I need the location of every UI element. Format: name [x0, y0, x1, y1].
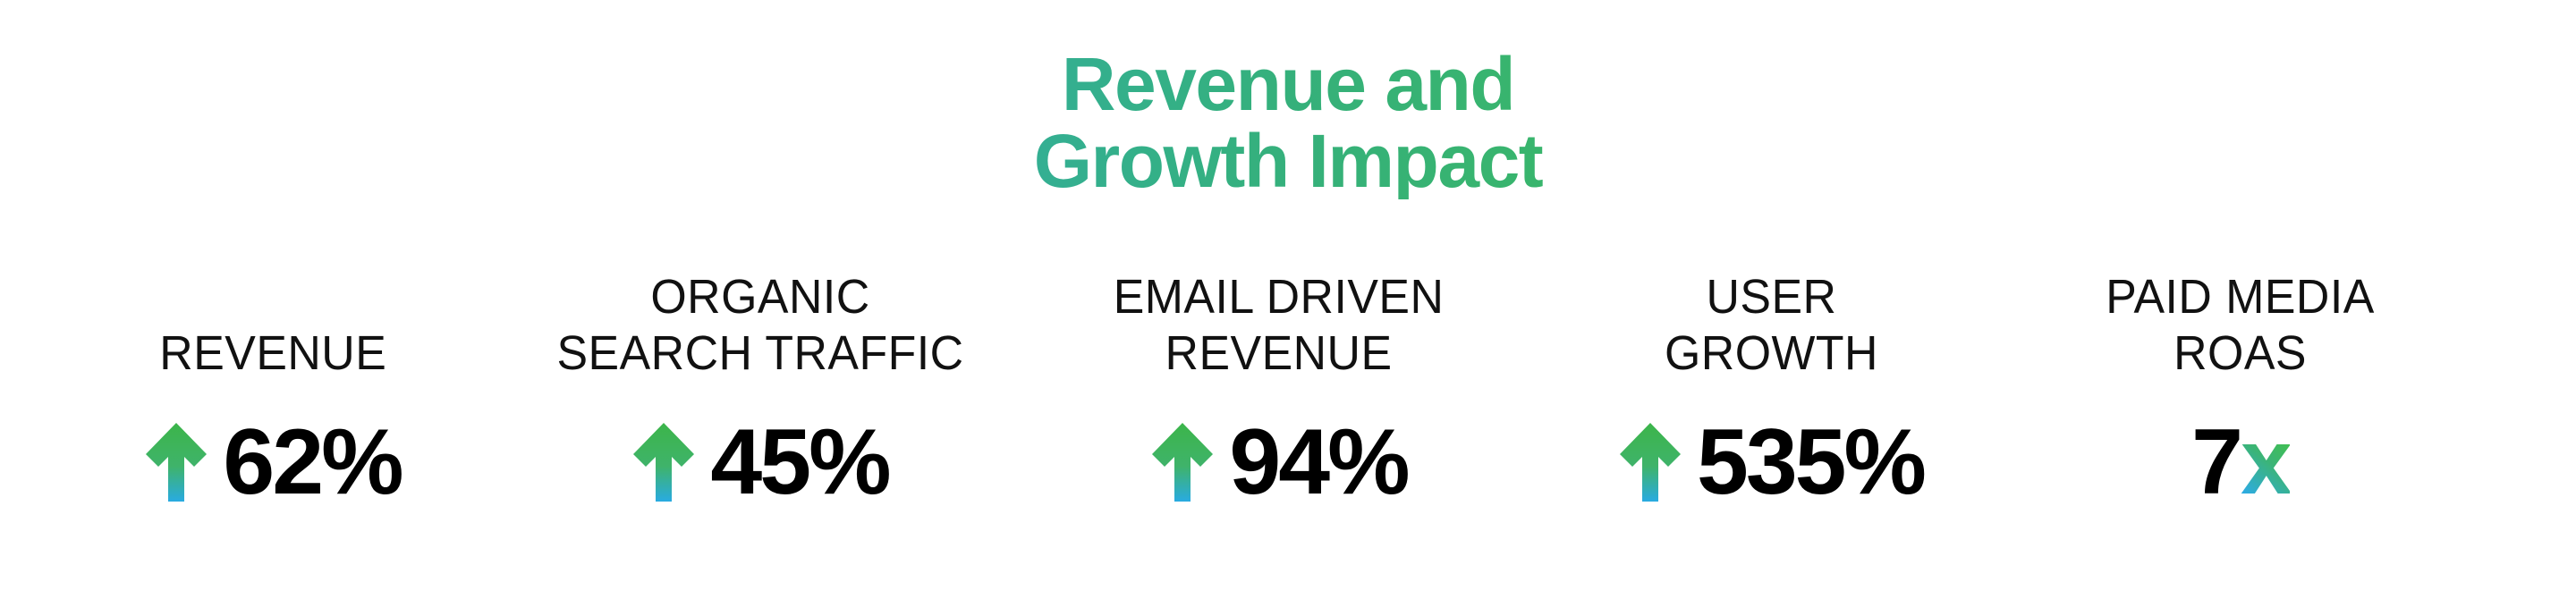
stat-value: 7x	[2191, 416, 2290, 509]
stats-row: REVENUE 62% ORGANIC SEARCH TRAFFIC	[54, 268, 2469, 510]
stat-label: REVENUE	[159, 268, 386, 383]
stat-value-row: 62%	[144, 415, 401, 510]
stat-label: USER GROWTH	[1664, 268, 1877, 383]
infographic-canvas: Revenue and Growth Impact REVENUE	[0, 0, 2576, 599]
stat-value-number: 7	[2191, 410, 2241, 514]
stat-value: 535%	[1697, 416, 1924, 509]
page-title-line-2: Growth Impact	[0, 123, 2576, 200]
stat-card-user-growth: USER GROWTH 535%	[1529, 268, 2012, 510]
arrow-up-icon	[144, 421, 208, 503]
stat-card-email-driven-revenue: EMAIL DRIVEN REVENUE 94%	[1029, 268, 1529, 510]
stat-value: 94%	[1229, 416, 1407, 509]
stat-value-row: 94%	[1150, 415, 1407, 510]
stat-value-suffix: x	[2241, 410, 2290, 514]
stat-value: 45%	[710, 416, 888, 509]
stat-value-row: 45%	[631, 415, 888, 510]
page-title: Revenue and Growth Impact	[0, 46, 2576, 199]
stat-value-row: 7x	[2191, 415, 2290, 510]
arrow-up-icon	[1618, 421, 1682, 503]
stat-label: ORGANIC SEARCH TRAFFIC	[556, 268, 963, 383]
page-title-line-1: Revenue and	[0, 46, 2576, 123]
stat-card-organic-search-traffic: ORGANIC SEARCH TRAFFIC 45%	[492, 268, 1029, 510]
arrow-up-icon	[1150, 421, 1215, 503]
stat-label: PAID MEDIA ROAS	[2106, 268, 2376, 383]
stat-value: 62%	[223, 416, 401, 509]
stat-label: EMAIL DRIVEN REVENUE	[1114, 268, 1445, 383]
stat-card-paid-media-roas: PAID MEDIA ROAS 7x	[2012, 268, 2469, 510]
stat-value-row: 535%	[1618, 415, 1924, 510]
arrow-up-icon	[631, 421, 696, 503]
stat-card-revenue: REVENUE 62%	[54, 268, 492, 510]
